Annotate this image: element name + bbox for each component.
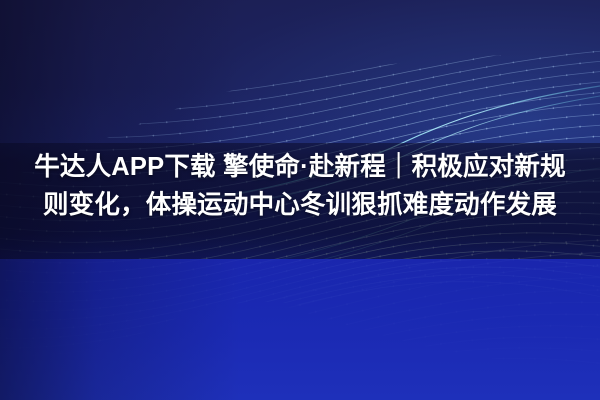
banner-image: 牛达人APP下载 擎使命·赴新程｜积极应对新规 则变化，体操运动中心冬训狠抓难度… (0, 0, 600, 400)
headline-block: 牛达人APP下载 擎使命·赴新程｜积极应对新规 则变化，体操运动中心冬训狠抓难度… (0, 148, 600, 224)
headline-line-1: 牛达人APP下载 擎使命·赴新程｜积极应对新规 (14, 148, 586, 186)
headline-line-2: 则变化，体操运动中心冬训狠抓难度动作发展 (14, 186, 586, 224)
